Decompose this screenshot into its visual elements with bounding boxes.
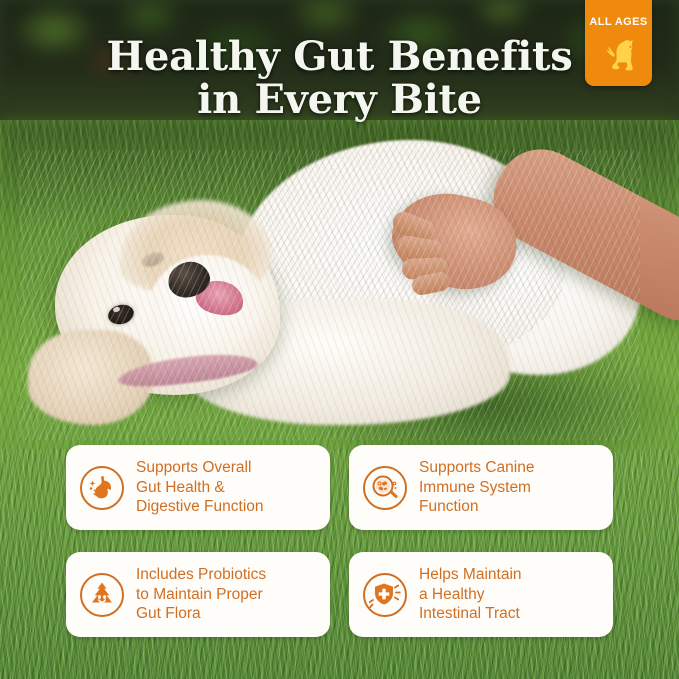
all-ages-badge: ALL AGES: [585, 0, 652, 86]
magnifier-germs-icon: [361, 464, 409, 512]
benefit-line: Includes Probiotics: [136, 565, 266, 585]
benefit-card-text: Helps Maintain a Healthy Intestinal Trac…: [419, 565, 522, 624]
product-infographic: Healthy Gut Benefits in Every Bite ALL A…: [0, 0, 679, 679]
benefit-line: Immune System: [419, 478, 534, 498]
benefit-line: a Healthy: [419, 585, 522, 605]
benefit-line: Gut Health &: [136, 478, 264, 498]
benefit-line: Function: [419, 497, 534, 517]
all-ages-label: ALL AGES: [589, 16, 647, 28]
sitting-dog-icon: [598, 31, 640, 80]
benefit-line: Helps Maintain: [419, 565, 522, 585]
benefit-line: Supports Overall: [136, 458, 264, 478]
benefit-line: to Maintain Proper: [136, 585, 266, 605]
benefit-card-probiotics[interactable]: Includes Probiotics to Maintain Proper G…: [66, 552, 330, 637]
benefit-card-gut-health[interactable]: Supports Overall Gut Health & Digestive …: [66, 445, 330, 530]
headline: Healthy Gut Benefits in Every Bite: [0, 36, 679, 122]
shield-plus-icon: [361, 571, 409, 619]
benefit-line: Gut Flora: [136, 604, 266, 624]
benefit-card-text: Supports Canine Immune System Function: [419, 458, 534, 517]
stomach-icon: [78, 464, 126, 512]
benefit-line: Intestinal Tract: [419, 604, 522, 624]
benefit-card-immune-system[interactable]: Supports Canine Immune System Function: [349, 445, 613, 530]
headline-line-2: in Every Bite: [70, 79, 609, 122]
benefit-line: Supports Canine: [419, 458, 534, 478]
benefit-card-text: Supports Overall Gut Health & Digestive …: [136, 458, 264, 517]
benefit-cards: Supports Overall Gut Health & Digestive …: [66, 445, 613, 637]
benefit-line: Digestive Function: [136, 497, 264, 517]
benefit-card-text: Includes Probiotics to Maintain Proper G…: [136, 565, 266, 624]
headline-line-1: Healthy Gut Benefits: [107, 33, 573, 80]
probiotic-poop-icon: [78, 571, 126, 619]
benefit-card-intestinal-tract[interactable]: Helps Maintain a Healthy Intestinal Trac…: [349, 552, 613, 637]
